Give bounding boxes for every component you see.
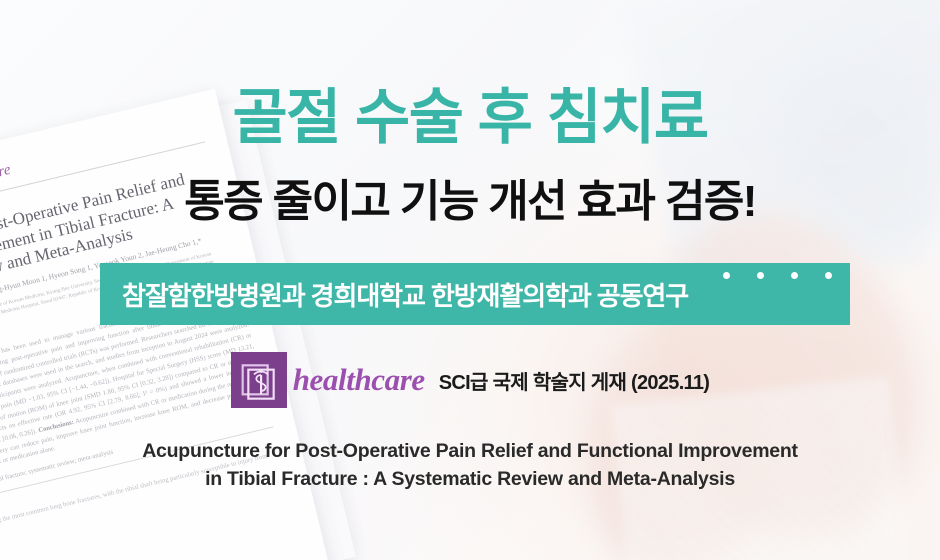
collaboration-banner-text: 참잘함한방병원과 경희대학교 한방재활의학과 공동연구 bbox=[122, 276, 688, 313]
promo-card: healthcare Systematic Review Acupuncture… bbox=[0, 0, 940, 560]
journal-credit-row: healthcare SCI급 국제 학술지 게재 (2025.11) bbox=[0, 352, 940, 408]
english-title-line-1: Acupuncture for Post-Operative Pain Reli… bbox=[0, 438, 940, 466]
dot-1 bbox=[723, 272, 730, 279]
journal-logo: healthcare bbox=[231, 352, 425, 408]
subheadline: 통증 줄이고 기능 개선 효과 검증! bbox=[0, 180, 940, 224]
dot-3 bbox=[791, 272, 798, 279]
banner-decorative-dots bbox=[723, 272, 832, 279]
headline: 골절 수술 후 침치료 bbox=[0, 88, 940, 148]
journal-logo-word: healthcare bbox=[293, 362, 425, 398]
collaboration-banner: 참잘함한방병원과 경희대학교 한방재활의학과 공동연구 bbox=[100, 263, 850, 325]
dot-2 bbox=[757, 272, 764, 279]
english-title: Acupuncture for Post-Operative Pain Reli… bbox=[0, 438, 940, 493]
foreground-content: 골절 수술 후 침치료 통증 줄이고 기능 개선 효과 검증! 참잘함한방병원과… bbox=[0, 0, 940, 560]
journal-tagline: SCI급 국제 학술지 게재 (2025.11) bbox=[439, 366, 709, 395]
caduceus-book-icon bbox=[231, 352, 287, 408]
english-title-line-2: in Tibial Fracture : A Systematic Review… bbox=[0, 466, 940, 494]
dot-4 bbox=[825, 272, 832, 279]
